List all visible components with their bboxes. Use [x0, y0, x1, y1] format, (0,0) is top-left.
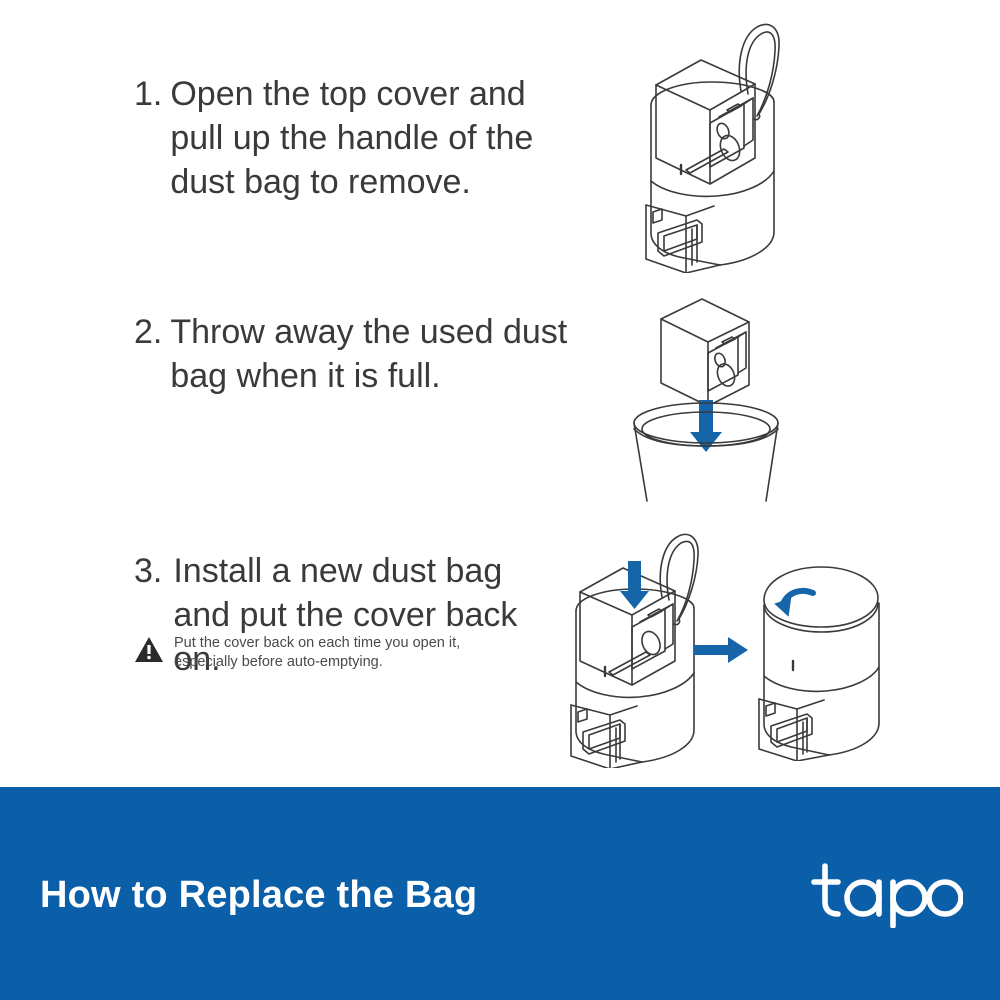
step-1-text: 1. Open the top cover and pull up the ha… [134, 72, 564, 204]
illustration-step-3-transition-arrow [692, 634, 752, 666]
step-3-number: 3. [134, 549, 162, 593]
warning-line-2: especially before auto-emptying. [174, 653, 460, 672]
step-2-label: Throw away the used dust bag when it is … [170, 310, 604, 398]
curved-close-arrow [773, 591, 813, 617]
right-arrow [694, 637, 748, 663]
warning-note: Put the cover back on each time you open… [134, 634, 534, 672]
closed-top-cover [764, 567, 878, 632]
step-1-label: Open the top cover and pull up the handl… [170, 72, 564, 204]
dust-bag [661, 299, 749, 406]
illustration-step-3-closed [746, 556, 896, 761]
dock-body [764, 603, 879, 755]
illustration-step-1 [624, 18, 809, 273]
down-arrow [690, 400, 722, 452]
footer-title: How to Replace the Bag [40, 871, 477, 919]
dust-bag [580, 568, 675, 685]
charging-ramp [571, 705, 642, 768]
charging-ramp [759, 699, 829, 761]
step-2-number: 2. [134, 310, 162, 354]
warning-line-1: Put the cover back on each time you open… [174, 634, 460, 653]
warning-text: Put the cover back on each time you open… [174, 634, 460, 672]
content-area: 1. Open the top cover and pull up the ha… [0, 0, 1000, 787]
warning-triangle-icon [134, 636, 164, 664]
dock-body [576, 589, 694, 762]
step-1-number: 1. [134, 72, 162, 116]
open-top-cover [739, 24, 779, 119]
tapo-logo [808, 860, 963, 928]
open-top-cover [660, 534, 698, 624]
illustration-step-2 [616, 292, 806, 502]
instruction-page: 1. Open the top cover and pull up the ha… [0, 0, 1000, 1000]
step-2-text: 2. Throw away the used dust bag when it … [134, 310, 604, 398]
